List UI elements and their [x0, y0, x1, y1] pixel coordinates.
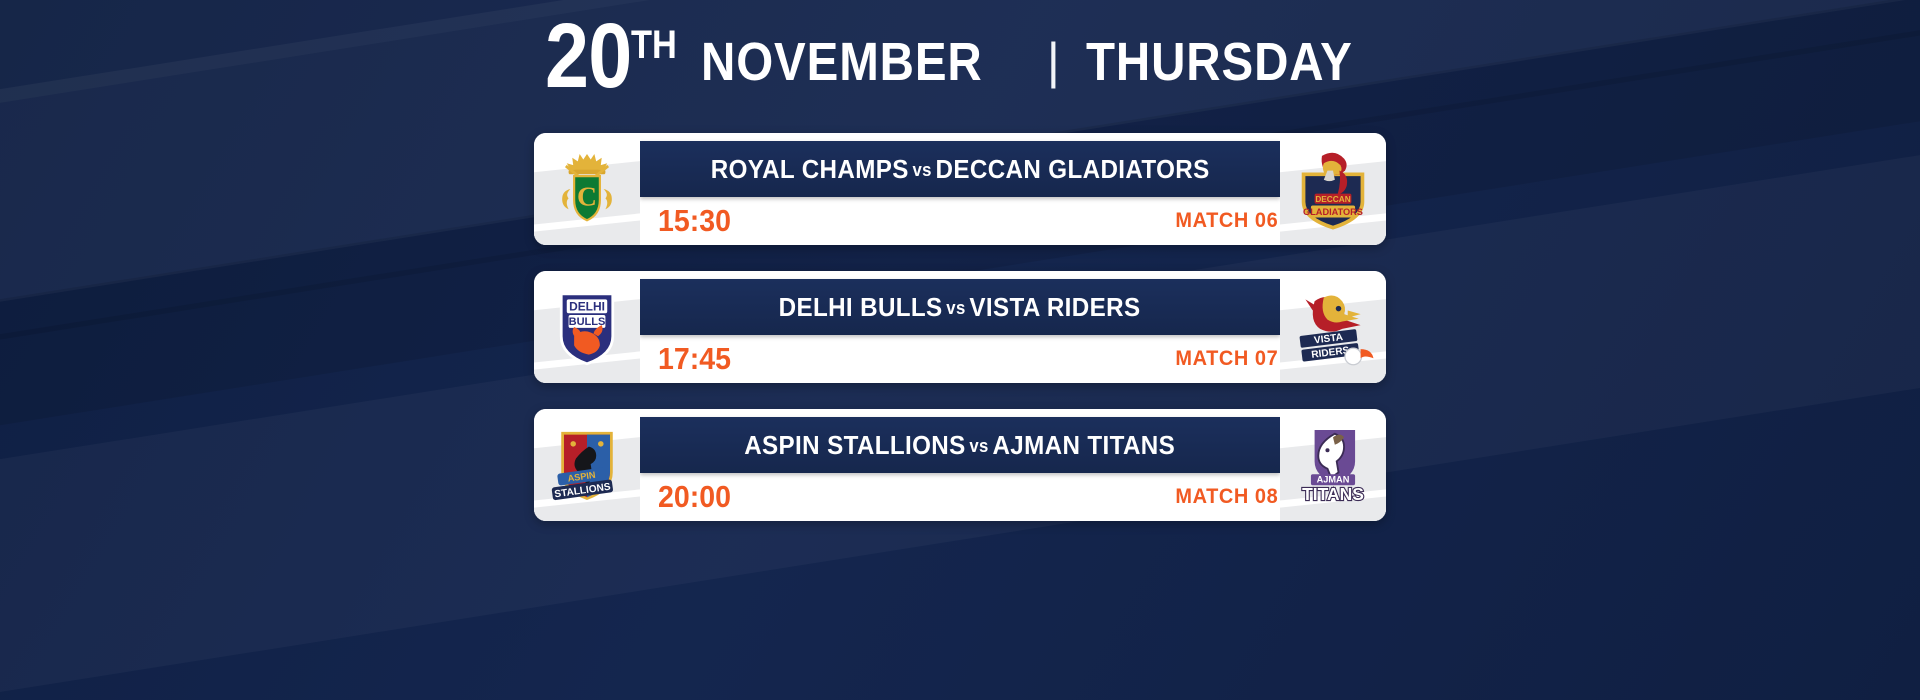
match-number: MATCH 08: [1175, 485, 1278, 509]
match-center: DELHI BULLSvsVISTA RIDERS 17:45 MATCH 07: [640, 271, 1280, 383]
header-day: 20: [545, 14, 631, 99]
match-card[interactable]: ASPIN STALLIONS ASPIN STALLIONSvsAJMAN T…: [534, 409, 1386, 521]
header-ordinal: TH: [631, 25, 677, 65]
vista-riders-logo: VISTA RIDERS: [1287, 281, 1379, 373]
home-team-logo-panel: ASPIN STALLIONS: [534, 409, 640, 521]
match-center: ROYAL CHAMPSvsDECCAN GLADIATORS 15:30 MA…: [640, 133, 1280, 245]
match-number: MATCH 06: [1175, 209, 1278, 233]
match-info-row: 17:45 MATCH 07: [640, 335, 1280, 383]
svg-text:VISTA: VISTA: [1313, 332, 1344, 347]
match-info-row: 15:30 MATCH 06: [640, 197, 1280, 245]
date-header: 20 TH NOVEMBER | THURSDAY: [0, 14, 1920, 99]
match-title: ROYAL CHAMPSvsDECCAN GLADIATORS: [711, 154, 1210, 185]
match-card[interactable]: DELHI BULLS DELHI BULLSvsVISTA RIDERS 17…: [534, 271, 1386, 383]
match-center: ASPIN STALLIONSvsAJMAN TITANS 20:00 MATC…: [640, 409, 1280, 521]
svg-text:DELHI: DELHI: [569, 299, 605, 313]
deccan-gladiators-logo: DECCAN GLADIATORS: [1287, 143, 1379, 235]
match-title: DELHI BULLSvsVISTA RIDERS: [779, 292, 1141, 323]
match-time: 20:00: [658, 479, 731, 515]
match-number: MATCH 07: [1175, 347, 1278, 371]
match-info-row: 20:00 MATCH 08: [640, 473, 1280, 521]
header-separator: |: [1047, 32, 1060, 90]
match-time: 17:45: [658, 341, 731, 377]
header-weekday: THURSDAY: [1086, 31, 1353, 93]
svg-text:TITANS: TITANS: [1302, 484, 1364, 504]
match-title-bar: ASPIN STALLIONSvsAJMAN TITANS: [640, 417, 1280, 473]
royal-champs-logo: C: [541, 143, 633, 235]
match-list: C ROYAL CHAMPSvsDECCAN GLADIATORS 15:30 …: [0, 133, 1920, 547]
svg-text:RIDERS: RIDERS: [1311, 345, 1351, 361]
match-title-bar: ROYAL CHAMPSvsDECCAN GLADIATORS: [640, 141, 1280, 197]
home-team-logo-panel: DELHI BULLS: [534, 271, 640, 383]
match-card[interactable]: C ROYAL CHAMPSvsDECCAN GLADIATORS 15:30 …: [534, 133, 1386, 245]
match-time: 15:30: [658, 203, 731, 239]
match-title-bar: DELHI BULLSvsVISTA RIDERS: [640, 279, 1280, 335]
away-team-logo-panel: AJMAN TITANS: [1280, 409, 1386, 521]
svg-text:AJMAN: AJMAN: [1317, 474, 1350, 484]
svg-text:DECCAN: DECCAN: [1315, 195, 1350, 204]
away-team-logo-panel: DECCAN GLADIATORS: [1280, 133, 1386, 245]
away-team-logo-panel: VISTA RIDERS: [1280, 271, 1386, 383]
home-team-logo-panel: C: [534, 133, 640, 245]
delhi-bulls-logo: DELHI BULLS: [541, 281, 633, 373]
header-month: NOVEMBER: [701, 31, 983, 93]
svg-text:GLADIATORS: GLADIATORS: [1303, 207, 1363, 217]
match-title: ASPIN STALLIONSvsAJMAN TITANS: [745, 430, 1176, 461]
svg-text:C: C: [577, 181, 597, 212]
aspin-stallions-logo: ASPIN STALLIONS: [541, 419, 633, 511]
ajman-titans-logo: AJMAN TITANS: [1287, 419, 1379, 511]
